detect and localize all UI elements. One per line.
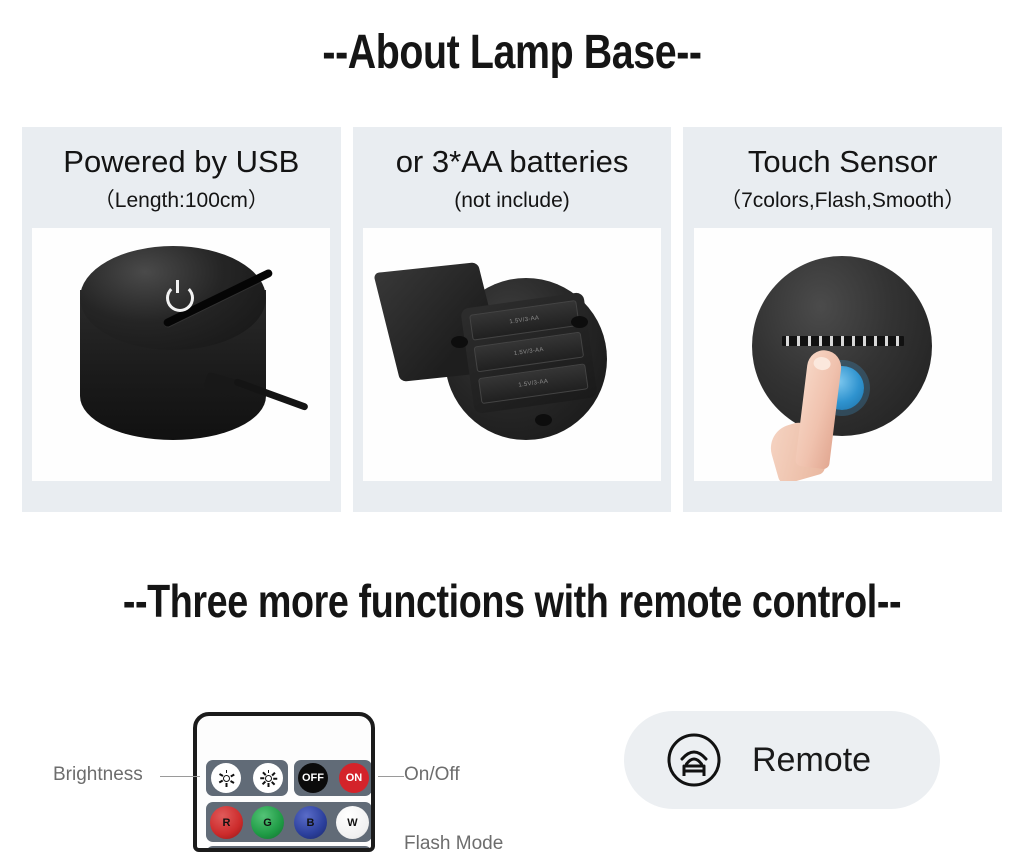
remote-control-device: OFF ON R G B W	[193, 712, 375, 852]
color-button-light-blue[interactable]	[294, 850, 327, 852]
leader-line-onoff	[378, 776, 404, 777]
sun-dim-icon	[219, 771, 234, 786]
feature-card-usb: Powered by USB （Length:100cm）	[22, 127, 341, 512]
power-on-button[interactable]: ON	[339, 763, 369, 793]
lamp-base-top-view	[752, 256, 932, 436]
remote-signal-icon	[666, 732, 722, 788]
rgb-button-pad-row2	[206, 846, 372, 852]
power-symbol-icon	[166, 284, 194, 312]
rubber-foot	[571, 316, 588, 328]
label-flash-mode: Flash Mode	[404, 833, 503, 855]
card-title: or 3*AA batteries	[396, 143, 629, 181]
page-title: --About Lamp Base--	[92, 24, 932, 82]
leader-line-brightness	[160, 776, 200, 777]
feature-card-row: Powered by USB （Length:100cm） or 3*AA ba…	[22, 127, 1002, 512]
rubber-foot	[451, 336, 468, 348]
feature-card-batteries: or 3*AA batteries (not include) 1.5V/3-A…	[353, 127, 672, 512]
card-subtitle: （7colors,Flash,Smooth）	[720, 188, 965, 214]
label-brightness: Brightness	[53, 764, 143, 786]
battery-compartment-photo: 1.5V/3-AA 1.5V/3-AA 1.5V/3-AA	[363, 228, 661, 481]
power-off-button[interactable]: OFF	[298, 763, 328, 793]
color-button-green[interactable]: G	[251, 806, 284, 839]
card-subtitle: （Length:100cm）	[94, 188, 269, 214]
brightness-down-button[interactable]	[211, 763, 241, 793]
lamp-base-top-surface	[80, 246, 266, 350]
sun-bright-icon	[261, 771, 276, 786]
color-button-red[interactable]: R	[210, 806, 243, 839]
flash-mode-button[interactable]	[336, 850, 369, 852]
color-button-white[interactable]: W	[336, 806, 369, 839]
feature-card-touch-sensor: Touch Sensor （7colors,Flash,Smooth）	[683, 127, 1002, 512]
touch-sensor-photo	[694, 228, 992, 481]
remote-badge-label: Remote	[752, 741, 871, 780]
brightness-up-button[interactable]	[253, 763, 283, 793]
remote-section-title: --Three more functions with remote contr…	[92, 572, 932, 630]
card-title: Powered by USB	[63, 143, 299, 181]
usb-lamp-base-photo	[32, 228, 330, 481]
color-button-light-green[interactable]	[251, 850, 284, 852]
card-title: Touch Sensor	[748, 143, 938, 181]
led-strip	[782, 336, 904, 346]
battery-well: 1.5V/3-AA 1.5V/3-AA 1.5V/3-AA	[460, 292, 598, 414]
color-button-orange[interactable]	[210, 850, 243, 852]
rubber-foot	[535, 414, 552, 426]
color-button-blue[interactable]: B	[294, 806, 327, 839]
remote-badge[interactable]: Remote	[624, 711, 940, 809]
card-subtitle: (not include)	[454, 188, 570, 214]
label-onoff: On/Off	[404, 764, 460, 786]
